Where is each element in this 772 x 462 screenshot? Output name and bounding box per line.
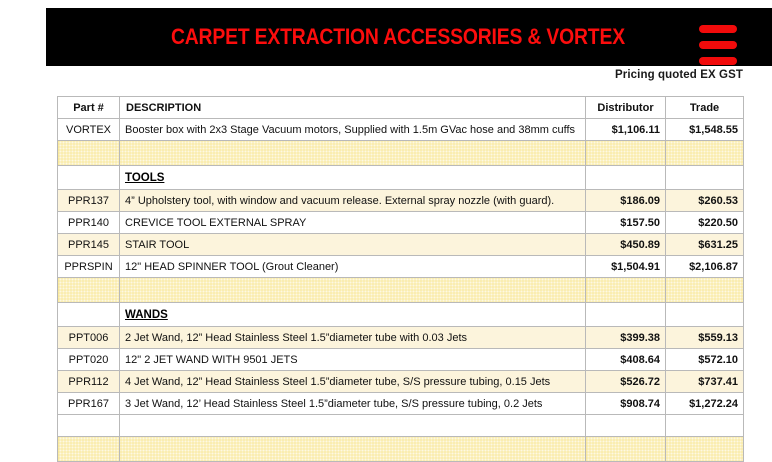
page-title: CARPET EXTRACTION ACCESSORIES & VORTEX <box>171 24 625 50</box>
logo-bar-middle <box>699 41 737 49</box>
table-row[interactable]: PPR1124 Jet Wand, 12” Head Stainless Ste… <box>58 371 744 393</box>
column-header-trade: Trade <box>666 97 744 119</box>
section-trade-cell <box>666 166 744 190</box>
cell-distributor-price: $1,504.91 <box>586 256 666 278</box>
cell-description: 4 Jet Wand, 12” Head Stainless Steel 1.5… <box>120 371 586 393</box>
section-trade-cell <box>666 303 744 327</box>
hamburger-bars-logo <box>699 25 737 65</box>
section-label: WANDS <box>125 309 168 321</box>
section-heading-row: TOOLS <box>58 166 744 190</box>
column-header-distributor: Distributor <box>586 97 666 119</box>
cell-description: STAIR TOOL <box>120 234 586 256</box>
header-banner: CARPET EXTRACTION ACCESSORIES & VORTEX <box>46 8 772 66</box>
cell-trade-price: $572.10 <box>666 349 744 371</box>
price-table-container: Part # DESCRIPTION Distributor Trade VOR… <box>57 96 743 462</box>
section-part-cell <box>58 166 120 190</box>
cell-part-number: PPR112 <box>58 371 120 393</box>
spacer-cell <box>586 141 666 166</box>
table-row[interactable]: VORTEXBooster box with 2x3 Stage Vacuum … <box>58 119 744 141</box>
cell-trade-price: $220.50 <box>666 212 744 234</box>
spacer-cell <box>58 141 120 166</box>
cell-distributor-price: $450.89 <box>586 234 666 256</box>
cell-trade-price: $737.41 <box>666 371 744 393</box>
cell-description: 12" 2 JET WAND WITH 9501 JETS <box>120 349 586 371</box>
table-spacer-row <box>58 278 744 303</box>
cell-description: 2 Jet Wand, 12” Head Stainless Steel 1.5… <box>120 327 586 349</box>
cell-description: 4” Upholstery tool, with window and vacu… <box>120 190 586 212</box>
table-row[interactable]: PPT0062 Jet Wand, 12” Head Stainless Ste… <box>58 327 744 349</box>
cell-description: 3 Jet Wand, 12’ Head Stainless Steel 1.5… <box>120 393 586 415</box>
column-header-description: DESCRIPTION <box>120 97 586 119</box>
section-heading-row: WANDS <box>58 303 744 327</box>
cell-part-number: VORTEX <box>58 119 120 141</box>
spacer-cell <box>58 437 120 462</box>
price-list-page: CARPET EXTRACTION ACCESSORIES & VORTEX P… <box>0 0 772 430</box>
cell-distributor-price: $186.09 <box>586 190 666 212</box>
cell-part-number: PPR167 <box>58 393 120 415</box>
blank-cell <box>666 415 744 437</box>
cell-distributor-price: $408.64 <box>586 349 666 371</box>
cell-trade-price: $559.13 <box>666 327 744 349</box>
cell-trade-price: $2,106.87 <box>666 256 744 278</box>
cell-description: 12" HEAD SPINNER TOOL (Grout Cleaner) <box>120 256 586 278</box>
section-distributor-cell <box>586 166 666 190</box>
cell-distributor-price: $1,106.11 <box>586 119 666 141</box>
blank-cell <box>586 415 666 437</box>
spacer-cell <box>120 437 586 462</box>
logo-bar-top <box>699 25 737 33</box>
table-row[interactable]: PPR1374” Upholstery tool, with window an… <box>58 190 744 212</box>
blank-cell <box>120 415 586 437</box>
cell-part-number: PPT020 <box>58 349 120 371</box>
gst-note: Pricing quoted EX GST <box>615 69 743 81</box>
section-heading-cell: WANDS <box>120 303 586 327</box>
table-spacer-row <box>58 437 744 462</box>
logo-bar-bottom <box>699 57 737 65</box>
spacer-cell <box>586 437 666 462</box>
cell-distributor-price: $526.72 <box>586 371 666 393</box>
column-header-part: Part # <box>58 97 120 119</box>
cell-part-number: PPR145 <box>58 234 120 256</box>
price-table: Part # DESCRIPTION Distributor Trade VOR… <box>57 96 744 462</box>
cell-distributor-price: $399.38 <box>586 327 666 349</box>
table-row[interactable]: PPR140CREVICE TOOL EXTERNAL SPRAY$157.50… <box>58 212 744 234</box>
spacer-cell <box>666 278 744 303</box>
section-label: TOOLS <box>125 172 164 184</box>
cell-trade-price: $260.53 <box>666 190 744 212</box>
blank-cell <box>58 415 120 437</box>
cell-part-number: PPR137 <box>58 190 120 212</box>
table-row[interactable]: PPT02012" 2 JET WAND WITH 9501 JETS$408.… <box>58 349 744 371</box>
table-spacer-row <box>58 141 744 166</box>
spacer-cell <box>666 141 744 166</box>
table-row[interactable]: PPRSPIN12" HEAD SPINNER TOOL (Grout Clea… <box>58 256 744 278</box>
table-header-row: Part # DESCRIPTION Distributor Trade <box>58 97 744 119</box>
section-distributor-cell <box>586 303 666 327</box>
cell-trade-price: $631.25 <box>666 234 744 256</box>
cell-trade-price: $1,272.24 <box>666 393 744 415</box>
cell-distributor-price: $908.74 <box>586 393 666 415</box>
cell-description: CREVICE TOOL EXTERNAL SPRAY <box>120 212 586 234</box>
cell-part-number: PPR140 <box>58 212 120 234</box>
cell-distributor-price: $157.50 <box>586 212 666 234</box>
cell-trade-price: $1,548.55 <box>666 119 744 141</box>
spacer-cell <box>58 278 120 303</box>
section-heading-cell: TOOLS <box>120 166 586 190</box>
cell-description: Booster box with 2x3 Stage Vacuum motors… <box>120 119 586 141</box>
table-blank-row <box>58 415 744 437</box>
spacer-cell <box>120 141 586 166</box>
cell-part-number: PPT006 <box>58 327 120 349</box>
cell-part-number: PPRSPIN <box>58 256 120 278</box>
spacer-cell <box>666 437 744 462</box>
spacer-cell <box>586 278 666 303</box>
table-row[interactable]: PPR145STAIR TOOL$450.89$631.25 <box>58 234 744 256</box>
section-part-cell <box>58 303 120 327</box>
table-row[interactable]: PPR1673 Jet Wand, 12’ Head Stainless Ste… <box>58 393 744 415</box>
spacer-cell <box>120 278 586 303</box>
